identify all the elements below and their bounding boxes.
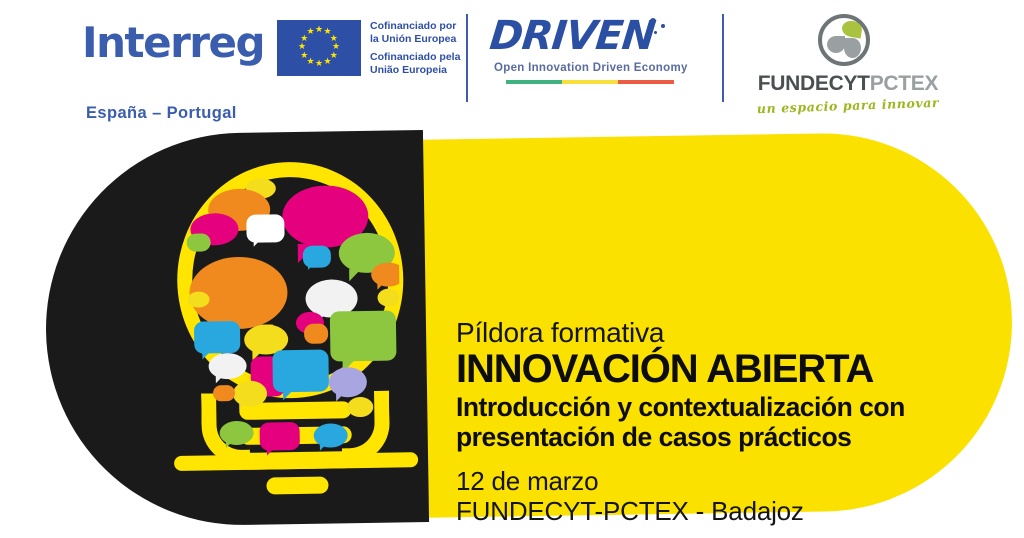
speech-bubble bbox=[314, 423, 348, 448]
driven-bar-segment-0 bbox=[506, 80, 562, 84]
event-text-block: Píldora formativa INNOVACIÓN ABIERTA Int… bbox=[456, 318, 996, 527]
speech-bubble-tail bbox=[320, 444, 327, 451]
driven-bar-segment-2 bbox=[618, 80, 674, 84]
speech-bubble bbox=[219, 421, 253, 446]
promo-poster: Interreg España – Portugal ★★★★★★★★★★★★ … bbox=[0, 0, 1024, 538]
driven-wordmark: DRIVEN bbox=[488, 16, 692, 56]
event-subtitle-line1: Introducción y contextualización con bbox=[456, 393, 996, 423]
speech-bubble-tail bbox=[239, 403, 246, 410]
speech-bubble bbox=[347, 397, 373, 417]
interreg-wordmark: Interreg bbox=[82, 22, 262, 64]
fundecyt-leaf-2 bbox=[827, 36, 845, 53]
driven-color-bar bbox=[506, 80, 674, 84]
fundecyt-mark-icon bbox=[818, 14, 870, 66]
fundecyt-word-b: PCTEX bbox=[870, 72, 939, 95]
speech-bubble bbox=[213, 385, 235, 401]
pill-banner: Píldora formativa INNOVACIÓN ABIERTA Int… bbox=[0, 126, 1024, 538]
eu-flag-icon: ★★★★★★★★★★★★ bbox=[277, 20, 361, 76]
speech-bubble bbox=[304, 324, 328, 344]
speech-bubble bbox=[259, 422, 299, 451]
driven-tagline: Open Innovation Driven Economy bbox=[494, 62, 688, 74]
event-date: 12 de marzo bbox=[456, 466, 996, 497]
speech-bubble-tail bbox=[267, 446, 276, 455]
speech-bubble-tail bbox=[216, 375, 224, 383]
speech-bubble-tail bbox=[226, 441, 233, 448]
event-subtitle-line2: presentación de casos prácticos bbox=[456, 423, 996, 453]
speech-bubble bbox=[194, 321, 240, 354]
lightbulb-illustration bbox=[161, 152, 427, 526]
event-venue: FUNDECYT-PCTEX - Badajoz bbox=[456, 496, 996, 527]
speech-bubble bbox=[233, 381, 267, 408]
speech-bubble-tail bbox=[349, 269, 361, 281]
eu-text-line1: Cofinanciado por bbox=[370, 20, 460, 33]
fundecyt-tagline: un espacio para innovar bbox=[748, 95, 948, 117]
interreg-logo: Interreg España – Portugal bbox=[82, 22, 262, 64]
driven-bar-segment-1 bbox=[562, 80, 618, 84]
speech-bubble-tail bbox=[336, 393, 344, 401]
speech-bubble bbox=[246, 214, 284, 243]
event-title: INNOVACIÓN ABIERTA bbox=[456, 349, 996, 390]
logo-header: Interreg España – Portugal ★★★★★★★★★★★★ … bbox=[0, 0, 1024, 132]
header-divider-2 bbox=[722, 14, 724, 102]
fundecyt-leaf-1 bbox=[844, 38, 861, 58]
speech-bubble bbox=[208, 353, 246, 380]
speech-bubble bbox=[272, 350, 329, 393]
speech-bubble bbox=[329, 367, 367, 398]
driven-logo: DRIVEN Open Innovation Driven Economy bbox=[490, 16, 690, 56]
speech-bubble-tail bbox=[254, 239, 262, 247]
speech-bubbles-group bbox=[186, 170, 403, 463]
speech-bubble-tail bbox=[308, 264, 314, 270]
event-eyebrow: Píldora formativa bbox=[456, 318, 996, 347]
pill-black-panel bbox=[43, 130, 429, 528]
speech-bubble bbox=[330, 310, 397, 361]
eu-text-line2: la Unión Europea bbox=[370, 33, 460, 46]
speech-bubble bbox=[303, 245, 331, 267]
eu-text-line3: Cofinanciado pela bbox=[370, 51, 460, 64]
fundecyt-word-a: FUNDECYT bbox=[758, 72, 870, 95]
eu-stars: ★★★★★★★★★★★★ bbox=[277, 20, 361, 76]
speech-bubble bbox=[371, 262, 402, 287]
interreg-subtitle: España – Portugal bbox=[86, 104, 237, 123]
speech-bubble-tail bbox=[283, 388, 295, 400]
eu-text-line4: União Europeia bbox=[370, 64, 460, 77]
speech-bubble bbox=[377, 288, 399, 306]
fundecyt-wordmark: FUNDECYTPCTEX bbox=[748, 72, 948, 96]
eu-cofunding-text: Cofinanciado por la Unión Europea Cofina… bbox=[370, 20, 460, 78]
speech-bubble bbox=[187, 233, 211, 251]
header-divider-1 bbox=[466, 14, 468, 102]
